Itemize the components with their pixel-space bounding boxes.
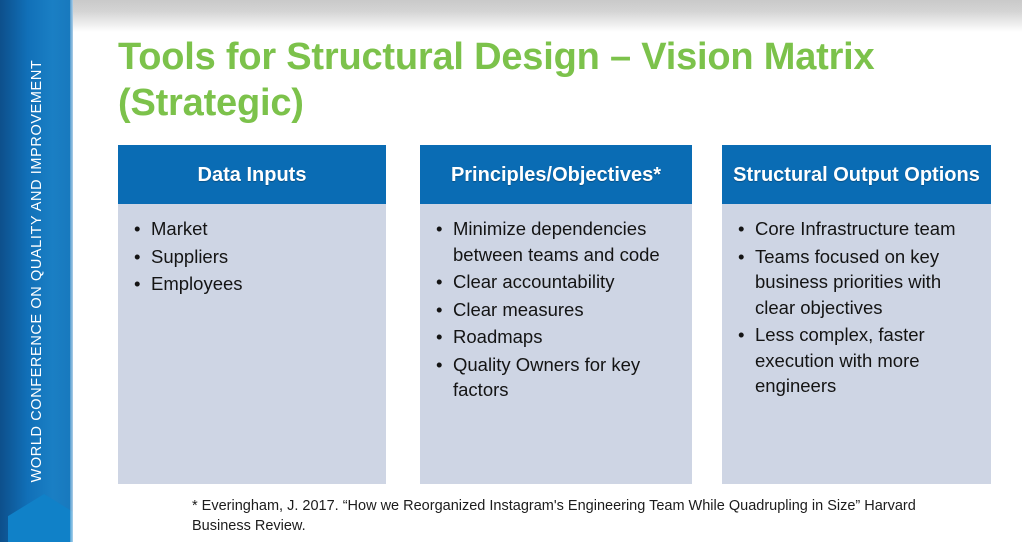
list-item: Employees xyxy=(132,271,376,297)
list-item: Market xyxy=(132,216,376,242)
list-item: Roadmaps xyxy=(434,324,682,350)
slide-title: Tools for Structural Design – Vision Mat… xyxy=(118,34,908,126)
bullet-list-data-inputs: Market Suppliers Employees xyxy=(132,216,376,297)
column-header-structural-output-options: Structural Output Options xyxy=(722,145,991,204)
list-item: Less complex, faster execution with more… xyxy=(736,322,981,399)
list-item: Core Infrastructure team xyxy=(736,216,981,242)
column-header-data-inputs: Data Inputs xyxy=(118,145,386,204)
column-body-structural-output-options: Core Infrastructure team Teams focused o… xyxy=(722,204,991,484)
matrix-column-principles-objectives: Principles/Objectives* Minimize dependen… xyxy=(420,145,692,484)
sidebar-conference-label: WORLD CONFERENCE ON QUALITY AND IMPROVEM… xyxy=(29,60,45,483)
bullet-list-principles-objectives: Minimize dependencies between teams and … xyxy=(434,216,682,403)
list-item: Suppliers xyxy=(132,244,376,270)
list-item: Clear accountability xyxy=(434,269,682,295)
list-item: Minimize dependencies between teams and … xyxy=(434,216,682,267)
conference-sidebar-banner: WORLD CONFERENCE ON QUALITY AND IMPROVEM… xyxy=(0,0,73,542)
source-footnote: * Everingham, J. 2017. “How we Reorganiz… xyxy=(192,496,972,536)
list-item: Quality Owners for key factors xyxy=(434,352,682,403)
matrix-column-data-inputs: Data Inputs Market Suppliers Employees xyxy=(118,145,386,484)
bullet-list-structural-output-options: Core Infrastructure team Teams focused o… xyxy=(736,216,981,399)
column-body-principles-objectives: Minimize dependencies between teams and … xyxy=(420,204,692,484)
vision-matrix-columns: Data Inputs Market Suppliers Employees P… xyxy=(118,145,991,484)
list-item: Clear measures xyxy=(434,297,682,323)
column-header-principles-objectives: Principles/Objectives* xyxy=(420,145,692,204)
column-body-data-inputs: Market Suppliers Employees xyxy=(118,204,386,484)
hexagon-decoration-icon xyxy=(8,494,73,542)
top-gradient-strip xyxy=(73,0,1022,32)
list-item: Teams focused on key business priorities… xyxy=(736,244,981,321)
matrix-column-structural-output-options: Structural Output Options Core Infrastru… xyxy=(722,145,991,484)
